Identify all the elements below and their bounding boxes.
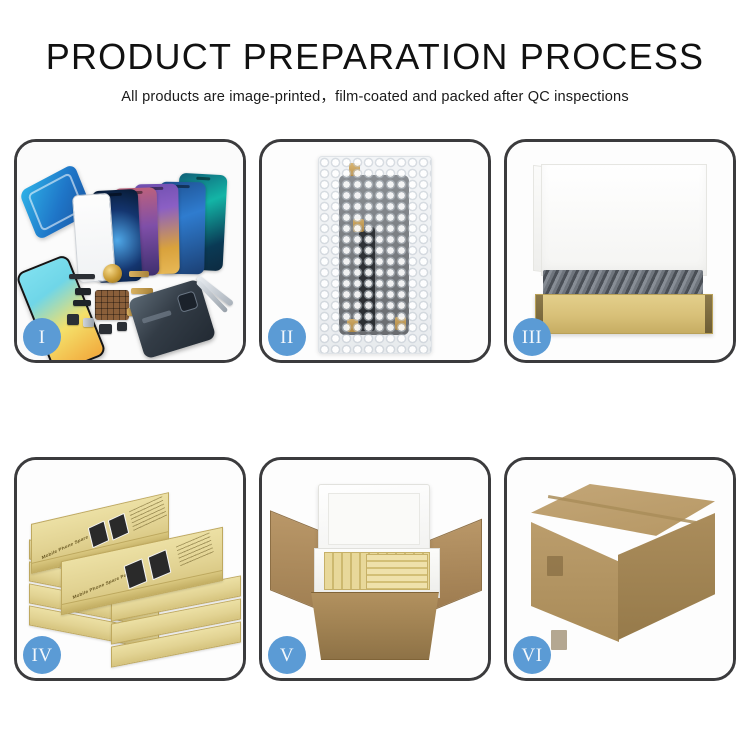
step-badge-6: VI [513, 636, 551, 674]
step-badge-3: III [513, 318, 551, 356]
step-badge-5: V [268, 636, 306, 674]
bubble-texture [319, 157, 431, 353]
box-text-lines-1 [129, 496, 167, 532]
box-thumbnail-2b [148, 549, 172, 580]
process-step-panel-1: I [14, 139, 246, 363]
screw-mat-icon [95, 290, 129, 320]
step-badge-1: I [23, 318, 61, 356]
spare-part-strip-2 [129, 271, 149, 277]
box-text-lines-2 [176, 532, 214, 567]
product-preparation-infographic: PRODUCT PREPARATION PROCESS All products… [0, 0, 750, 750]
packed-yellow-boxes-row-2 [366, 554, 428, 590]
process-step-panel-3: III [504, 139, 736, 363]
bubble-wrap-bag-icon [318, 156, 432, 354]
white-foam-lid-open-icon [318, 484, 430, 554]
yellow-kraft-tray-icon [535, 294, 713, 334]
carton-front-panel [304, 592, 446, 660]
process-step-panel-2: II [259, 139, 491, 363]
box-stack: Mobile Phone Spare Parts Mobile Phone Sp… [25, 478, 241, 668]
process-step-panel-4: Mobile Phone Spare Parts Mobile Phone Sp… [14, 457, 246, 681]
header: PRODUCT PREPARATION PROCESS All products… [0, 38, 750, 106]
speaker-coil-icon [103, 264, 122, 283]
spare-part-chip-3 [99, 324, 112, 334]
spare-part-chip-1 [67, 314, 79, 325]
spare-part-chip-2 [83, 318, 94, 327]
step-badge-2: II [268, 318, 306, 356]
page-subtitle: All products are image-printed，film-coat… [0, 85, 750, 106]
step-badge-4: IV [23, 636, 61, 674]
carton-tape-patch-1 [547, 556, 563, 576]
white-foam-lid-icon [541, 164, 707, 276]
box-thumbnail-1b [108, 513, 130, 541]
process-step-panel-5: V [259, 457, 491, 681]
spare-part-strip-4 [73, 300, 91, 306]
spare-part-chip-4 [117, 322, 127, 331]
spare-part-strip-1 [69, 274, 95, 279]
carton-tape-patch-2 [551, 630, 567, 650]
box-thumbnail-1a [88, 520, 110, 548]
carton-right-face [618, 513, 715, 640]
spare-part-strip-3 [75, 288, 91, 295]
box-thumbnail-2a [124, 558, 148, 589]
carton-left-face [531, 522, 619, 642]
page-title: PRODUCT PREPARATION PROCESS [0, 38, 750, 76]
process-step-grid: I II [14, 139, 736, 681]
process-step-panel-6: VI [504, 457, 736, 681]
